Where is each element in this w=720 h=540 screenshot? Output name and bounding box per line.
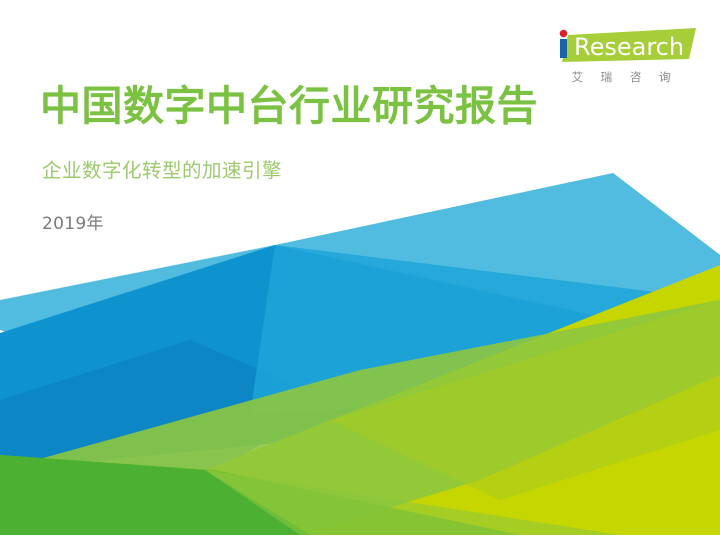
bottom-white-strip: [0, 535, 720, 540]
logo-chinese-name: 艾 瑞 咨 询: [546, 69, 696, 85]
logo-wordmark: Research: [574, 33, 684, 61]
cover-text-block: 中国数字中台行业研究报告 企业数字化转型的加速引擎 2019年: [40, 84, 538, 234]
report-cover-page: Research 艾 瑞 咨 询 中国数字中台行业研究报告 企业数字化转型的加速…: [0, 0, 720, 540]
iresearch-logo: Research 艾 瑞 咨 询: [546, 26, 696, 85]
logo-mark: Research: [546, 26, 696, 66]
page-title: 中国数字中台行业研究报告: [40, 84, 538, 130]
report-year: 2019年: [42, 209, 538, 234]
page-subtitle: 企业数字化转型的加速引擎: [42, 154, 538, 183]
logo-i-stem-icon: [560, 39, 567, 58]
logo-i-dot-icon: [560, 30, 568, 38]
